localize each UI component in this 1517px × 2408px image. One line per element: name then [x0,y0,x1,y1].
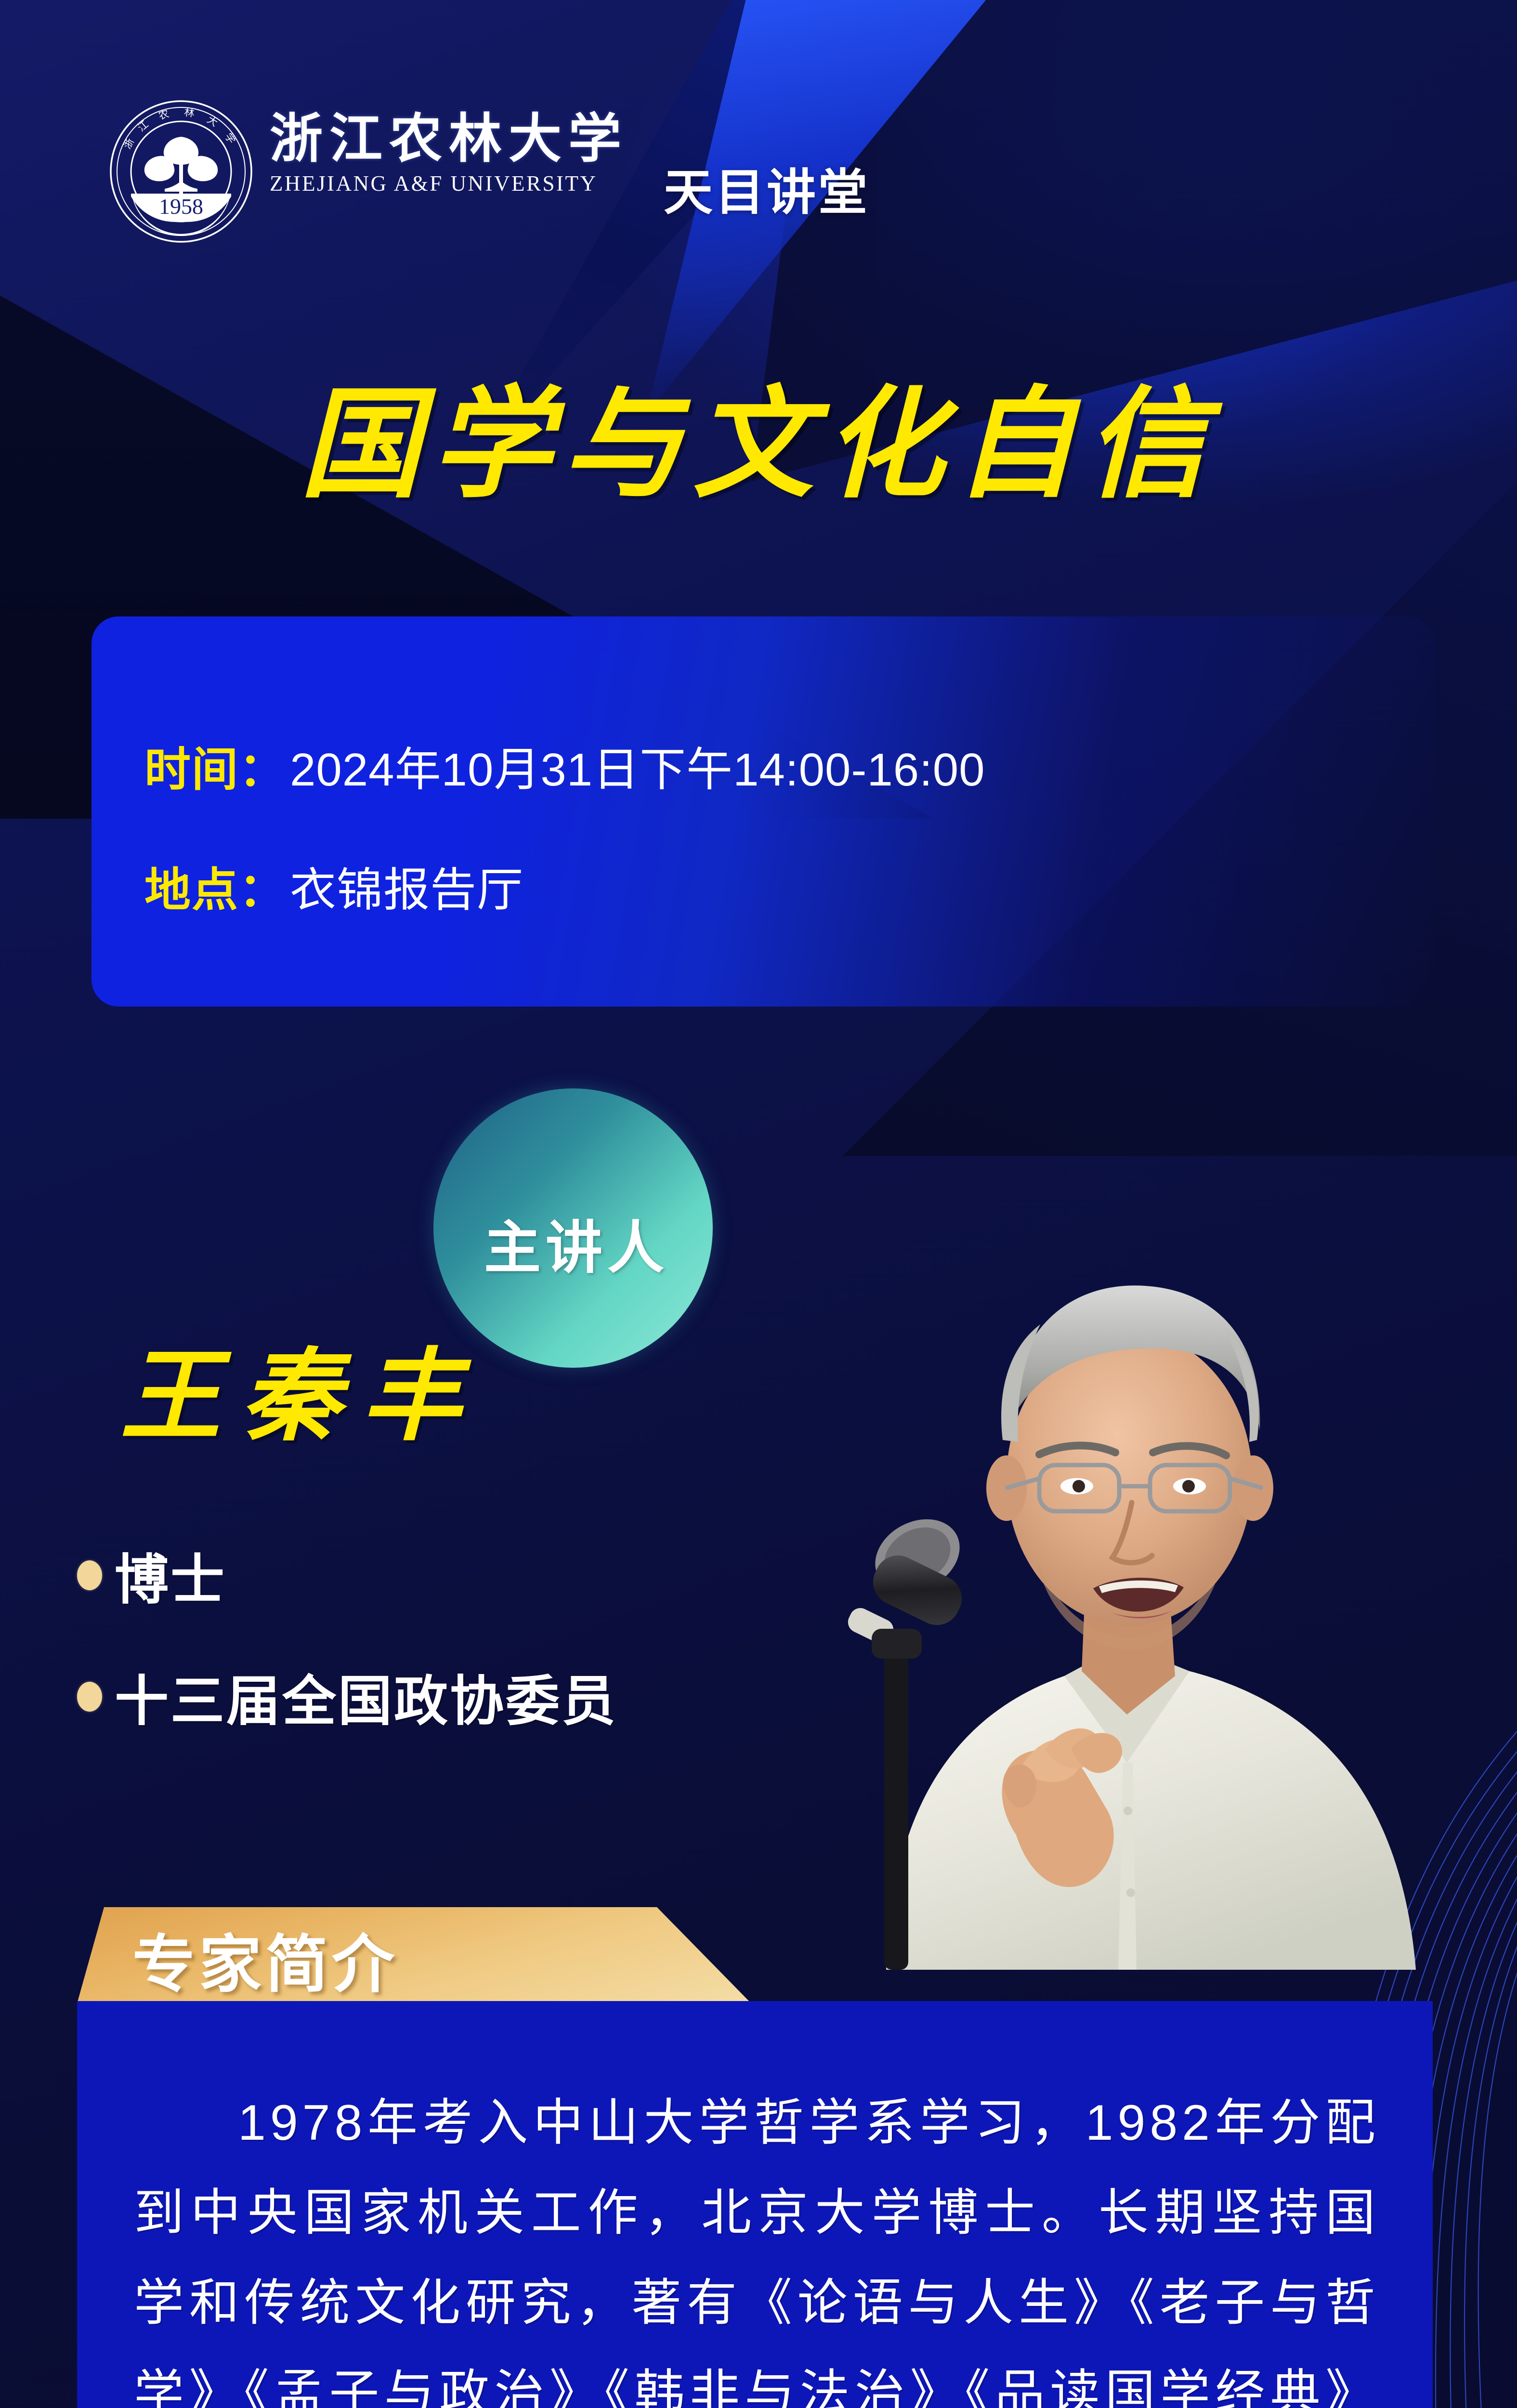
bio-text: 1978年考入中山大学哲学系学习，1982年分配到中央国家机关工作，北京大学博士… [134,2078,1380,2408]
svg-text:江: 江 [135,118,151,134]
svg-text:农: 农 [157,108,170,122]
bio-section-title: 专家简介 [132,1914,398,2004]
svg-text:学: 学 [222,131,238,146]
speaker-name: 王秦丰 [120,1315,482,1460]
poster-header: 1958 浙 江 农 林 大 学 Z H E J I A [109,99,870,244]
university-name-block: 浙江农林大学 ZHEJIANG A&F UNIVERSITY [270,99,628,196]
university-seal-icon: 1958 浙 江 农 林 大 学 Z H E J I A [109,99,253,244]
page-title: 国学与文化自信 [0,347,1517,521]
speaker-photo [727,1122,1517,1970]
svg-text:林: 林 [183,106,195,119]
list-item: 博士 [77,1536,617,1614]
event-time-label: 时间： [144,732,286,799]
speaker-credentials-list: 博士 十三届全国政协委员 [77,1536,617,1779]
svg-text:大: 大 [205,114,220,129]
list-item: 十三届全国政协委员 [77,1658,617,1736]
university-name-cn: 浙江农林大学 [270,111,628,168]
event-poster: 1958 浙 江 农 林 大 学 Z H E J I A [0,0,1517,2408]
bio-section-ribbon: 专家简介 [77,1907,751,2003]
credential-label: 十三届全国政协委员 [115,1658,617,1736]
event-time-value: 2024年10月31日下午14:00-16:00 [290,732,985,799]
event-info-box: 时间： 2024年10月31日下午14:00-16:00 地点： 衣锦报告厅 [92,616,1435,1007]
event-time-row: 时间： 2024年10月31日下午14:00-16:00 [144,732,985,799]
event-place-value: 衣锦报告厅 [290,852,523,919]
credential-label: 博士 [115,1536,226,1614]
bullet-dot-icon [77,1560,102,1590]
bio-box: 1978年考入中山大学哲学系学习，1982年分配到中央国家机关工作，北京大学博士… [77,2001,1433,2408]
svg-text:1958: 1958 [159,194,203,219]
university-name-en: ZHEJIANG A&F UNIVERSITY [270,171,628,196]
svg-text:浙: 浙 [121,136,136,151]
forum-name: 天目讲堂 [664,153,870,224]
speaker-badge-label: 主讲人 [484,1202,669,1284]
event-place-label: 地点： [144,852,286,919]
event-place-row: 地点： 衣锦报告厅 [144,852,523,919]
bullet-dot-icon [77,1682,102,1712]
